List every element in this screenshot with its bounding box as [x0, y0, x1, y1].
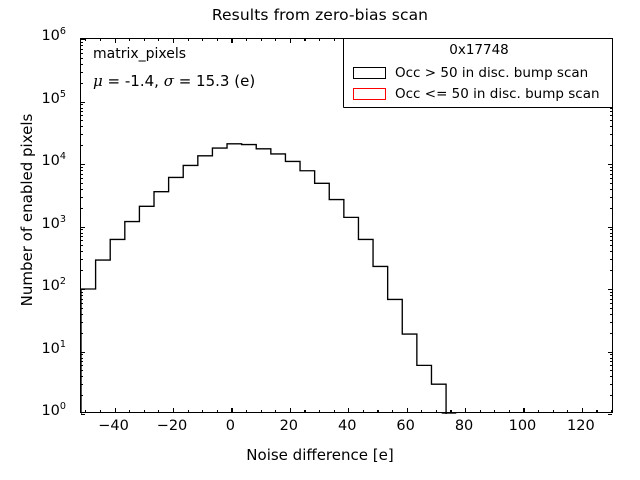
y-minor-tick	[81, 295, 83, 296]
y-minor-tick-right	[610, 174, 612, 175]
y-minor-tick-right	[610, 170, 612, 171]
x-minor-tick	[319, 410, 320, 412]
x-minor-tick-top	[85, 39, 86, 41]
mu-value: -1.4	[125, 72, 154, 90]
y-minor-tick	[81, 58, 83, 59]
y-minor-tick-right	[610, 134, 612, 135]
y-minor-tick-right	[610, 395, 612, 396]
y-minor-tick-right	[610, 229, 612, 230]
legend-title: 0x17748	[344, 42, 614, 58]
y-minor-tick-right	[610, 358, 612, 359]
x-minor-tick	[144, 410, 145, 412]
legend-box: 0x17748 Occ > 50 in disc. bump scan Occ …	[343, 38, 613, 108]
y-tick-6	[81, 39, 85, 40]
x-minor-tick	[304, 410, 305, 412]
y-minor-tick	[81, 115, 83, 116]
stats-unit: (e)	[234, 72, 255, 90]
x-minor-tick-top	[158, 39, 159, 41]
y-minor-tick-right	[610, 354, 612, 355]
x-tick-4	[348, 408, 349, 412]
annotation-dataset-label: matrix_pixels	[93, 46, 186, 62]
y-minor-tick-right	[610, 111, 612, 112]
x-tick-top-0	[115, 39, 116, 43]
y-minor-tick	[81, 189, 83, 190]
y-minor-tick	[81, 183, 83, 184]
x-tick-label-8: 120	[546, 418, 616, 434]
legend-entry-1[interactable]: Occ <= 50 in disc. bump scan	[353, 84, 600, 104]
x-minor-tick	[202, 410, 203, 412]
y-minor-tick	[81, 167, 83, 168]
x-minor-tick-top	[304, 39, 305, 41]
y-minor-tick	[81, 292, 83, 293]
y-minor-tick-right	[610, 120, 612, 121]
y-tick-2	[81, 289, 85, 290]
y-minor-tick	[81, 49, 83, 50]
x-tick-top-1	[173, 39, 174, 43]
x-minor-tick-top	[275, 39, 276, 41]
legend-entry-0[interactable]: Occ > 50 in disc. bump scan	[353, 63, 588, 83]
y-minor-tick-right	[610, 370, 612, 371]
x-minor-tick	[538, 410, 539, 412]
y-minor-tick-right	[610, 178, 612, 179]
x-tick-0	[115, 408, 116, 412]
y-minor-tick-right	[610, 197, 612, 198]
sigma-symbol: σ	[164, 72, 174, 90]
y-minor-tick	[81, 270, 83, 271]
y-minor-tick	[81, 53, 83, 54]
y-axis-label: Number of enabled pixels	[18, 20, 36, 400]
x-tick-7	[523, 408, 524, 412]
y-minor-tick	[81, 314, 83, 315]
x-minor-tick	[275, 410, 276, 412]
x-tick-6	[465, 408, 466, 412]
y-minor-tick-right	[610, 292, 612, 293]
legend-label-0: Occ > 50 in disc. bump scan	[395, 65, 588, 81]
y-minor-tick	[81, 197, 83, 198]
y-minor-tick	[81, 303, 83, 304]
y-minor-tick-right	[610, 384, 612, 385]
y-minor-tick	[81, 145, 83, 146]
y-tick-right-0	[608, 414, 612, 415]
stats-separator: ,	[154, 72, 164, 90]
y-minor-tick	[81, 361, 83, 362]
x-minor-tick-top	[202, 39, 203, 41]
y-minor-tick	[81, 111, 83, 112]
y-minor-tick-right	[610, 314, 612, 315]
x-tick-top-2	[231, 39, 232, 43]
y-minor-tick	[81, 358, 83, 359]
y-minor-tick-right	[610, 270, 612, 271]
y-minor-tick-right	[610, 167, 612, 168]
y-minor-tick	[81, 170, 83, 171]
y-minor-tick	[81, 42, 83, 43]
x-minor-tick	[246, 410, 247, 412]
x-minor-tick-top	[319, 39, 320, 41]
y-minor-tick-right	[610, 299, 612, 300]
y-minor-tick-right	[610, 115, 612, 116]
x-minor-tick	[85, 410, 86, 412]
y-minor-tick	[81, 120, 83, 121]
x-minor-tick	[188, 410, 189, 412]
x-minor-tick	[377, 410, 378, 412]
x-minor-tick	[217, 410, 218, 412]
x-minor-tick-top	[188, 39, 189, 41]
x-minor-tick	[436, 410, 437, 412]
y-minor-tick-right	[610, 208, 612, 209]
x-tick-top-3	[290, 39, 291, 43]
x-minor-tick-top	[129, 39, 130, 41]
x-minor-tick-top	[100, 39, 101, 41]
annotation-stats: μ = -1.4, σ = 15.3 (e)	[93, 72, 255, 90]
y-minor-tick-right	[610, 259, 612, 260]
x-tick-8	[582, 408, 583, 412]
y-minor-tick	[81, 333, 83, 334]
x-minor-tick-top	[334, 39, 335, 41]
y-minor-tick	[81, 251, 83, 252]
y-minor-tick	[81, 370, 83, 371]
x-minor-tick	[261, 410, 262, 412]
y-minor-tick	[81, 384, 83, 385]
y-minor-tick	[81, 45, 83, 46]
y-minor-tick-right	[610, 183, 612, 184]
y-minor-tick	[81, 233, 83, 234]
chart-title: Results from zero-bias scan	[0, 6, 640, 24]
x-minor-tick-top	[144, 39, 145, 41]
y-minor-tick	[81, 229, 83, 230]
y-minor-tick	[81, 322, 83, 323]
y-tick-right-1	[608, 352, 612, 353]
y-minor-tick	[81, 376, 83, 377]
y-tick-label-0: 100	[20, 403, 66, 419]
y-minor-tick-right	[610, 245, 612, 246]
legend-label-1: Occ <= 50 in disc. bump scan	[395, 86, 600, 102]
x-minor-tick	[553, 410, 554, 412]
x-minor-tick	[596, 410, 597, 412]
y-minor-tick-right	[610, 189, 612, 190]
x-tick-1	[173, 408, 174, 412]
y-minor-tick-right	[610, 361, 612, 362]
x-minor-tick	[509, 410, 510, 412]
y-minor-tick-right	[610, 365, 612, 366]
y-minor-tick	[81, 259, 83, 260]
y-minor-tick-right	[610, 240, 612, 241]
y-minor-tick-right	[610, 322, 612, 323]
y-minor-tick-right	[610, 295, 612, 296]
x-minor-tick	[567, 410, 568, 412]
y-minor-tick-right	[610, 376, 612, 377]
figure-canvas: Results from zero-bias scan −40−20020406…	[0, 0, 640, 480]
y-tick-right-3	[608, 227, 612, 228]
y-minor-tick	[81, 308, 83, 309]
x-minor-tick	[611, 410, 612, 412]
x-tick-2	[231, 408, 232, 412]
y-minor-tick	[81, 240, 83, 241]
sigma-value: 15.3	[196, 72, 229, 90]
y-minor-tick-right	[610, 233, 612, 234]
x-minor-tick	[494, 410, 495, 412]
x-tick-3	[290, 408, 291, 412]
mu-symbol: μ	[93, 72, 103, 90]
y-minor-tick-right	[610, 236, 612, 237]
x-minor-tick-top	[261, 39, 262, 41]
y-minor-tick	[81, 299, 83, 300]
x-minor-tick-top	[217, 39, 218, 41]
y-minor-tick	[81, 178, 83, 179]
x-minor-tick	[421, 410, 422, 412]
legend-swatch-icon-1	[353, 88, 386, 100]
y-minor-tick-right	[610, 145, 612, 146]
x-minor-tick	[158, 410, 159, 412]
x-minor-tick	[392, 410, 393, 412]
histogram-step-line	[81, 144, 446, 414]
y-minor-tick	[81, 134, 83, 135]
x-minor-tick	[480, 410, 481, 412]
y-tick-0	[81, 414, 85, 415]
legend-swatch-icon-0	[353, 67, 386, 79]
y-minor-tick	[81, 245, 83, 246]
y-minor-tick	[81, 83, 83, 84]
y-tick-5	[81, 102, 85, 103]
y-minor-tick	[81, 354, 83, 355]
y-tick-right-2	[608, 289, 612, 290]
x-axis-label: Noise difference [e]	[0, 446, 640, 464]
y-minor-tick	[81, 395, 83, 396]
y-minor-tick	[81, 72, 83, 73]
y-tick-right-4	[608, 164, 612, 165]
y-minor-tick	[81, 208, 83, 209]
x-minor-tick	[450, 410, 451, 412]
x-minor-tick	[334, 410, 335, 412]
x-minor-tick	[129, 410, 130, 412]
y-tick-3	[81, 227, 85, 228]
x-tick-5	[407, 408, 408, 412]
x-minor-tick-top	[246, 39, 247, 41]
y-tick-4	[81, 164, 85, 165]
y-minor-tick-right	[610, 333, 612, 334]
y-minor-tick-right	[610, 303, 612, 304]
y-minor-tick	[81, 126, 83, 127]
y-minor-tick-right	[610, 251, 612, 252]
y-minor-tick-right	[610, 126, 612, 127]
y-minor-tick	[81, 365, 83, 366]
y-minor-tick	[81, 108, 83, 109]
mu-value-text: =	[103, 72, 125, 90]
x-minor-tick	[100, 410, 101, 412]
y-minor-tick-right	[610, 308, 612, 309]
x-minor-tick	[363, 410, 364, 412]
y-tick-1	[81, 352, 85, 353]
y-minor-tick	[81, 174, 83, 175]
y-minor-tick	[81, 236, 83, 237]
sigma-equals: =	[174, 72, 196, 90]
y-minor-tick	[81, 64, 83, 65]
y-minor-tick	[81, 104, 83, 105]
